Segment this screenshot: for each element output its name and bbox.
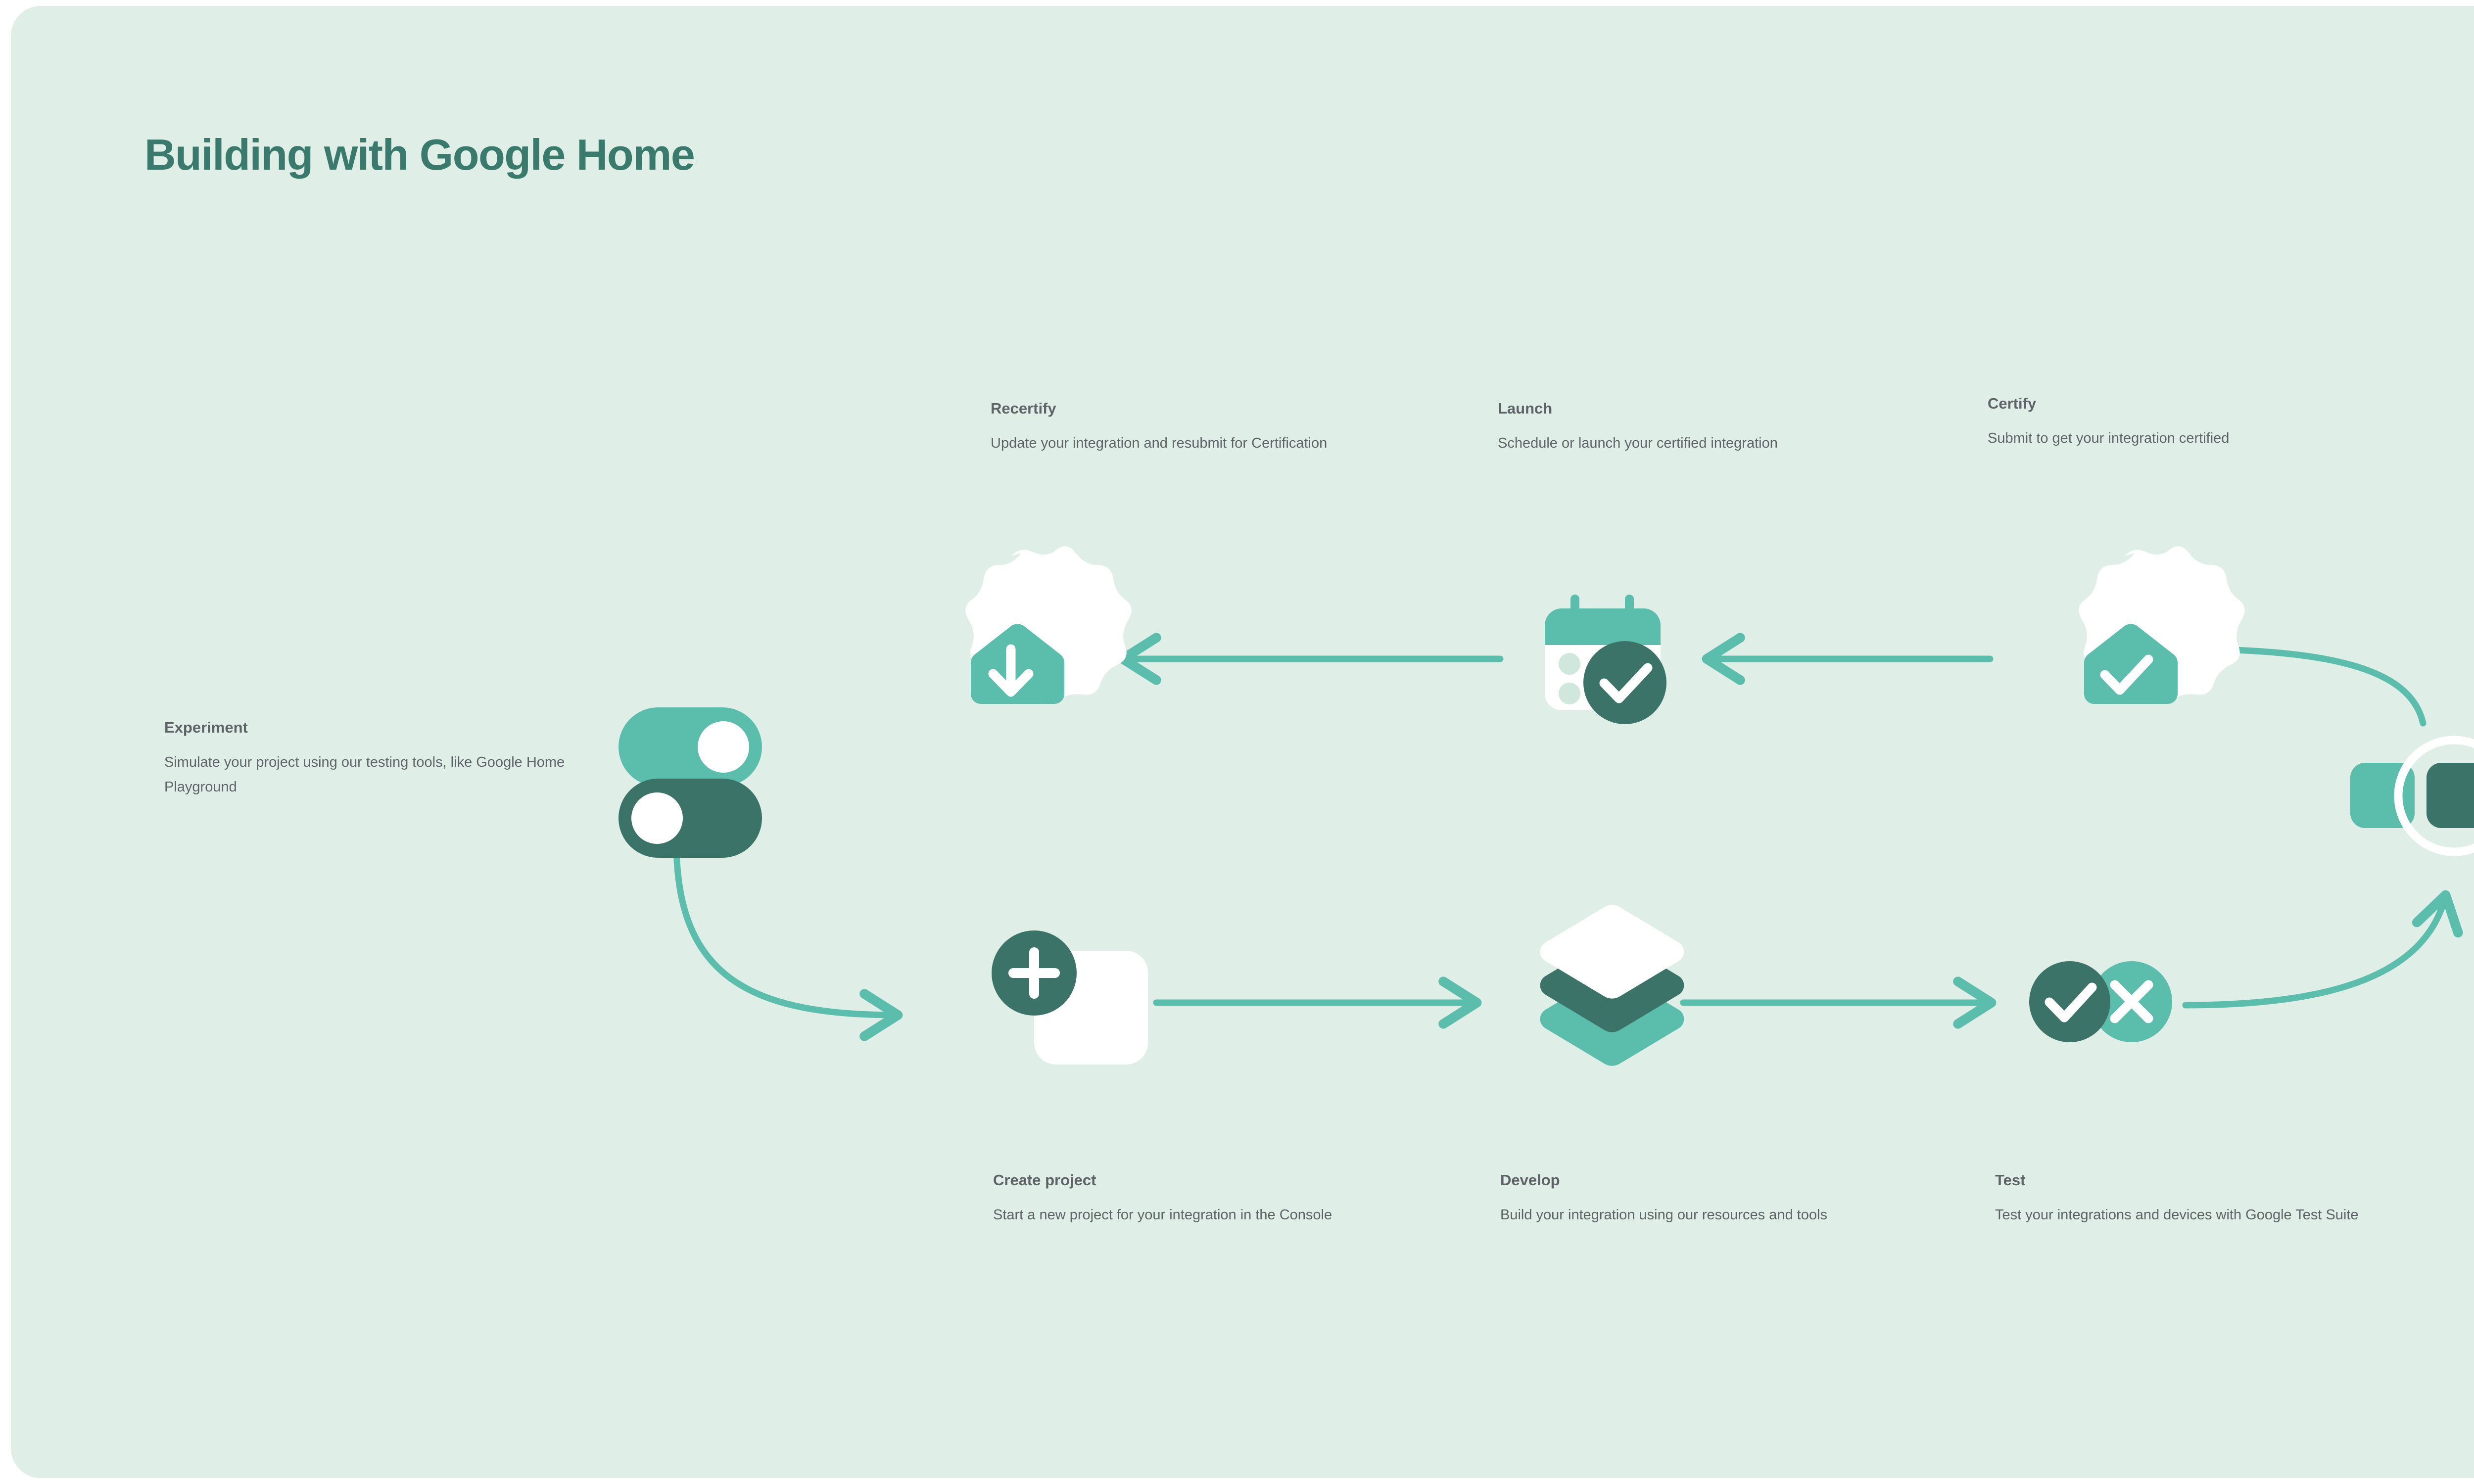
node-body-develop: Build your integration using our resourc… bbox=[1500, 1203, 1921, 1228]
node-body-launch: Schedule or launch your certified integr… bbox=[1498, 431, 1874, 456]
node-body-test: Test your integrations and devices with … bbox=[1995, 1203, 2440, 1228]
node-heading-certify: Certify bbox=[1988, 394, 2324, 414]
node-body-experiment: Simulate your project using our testing … bbox=[164, 750, 590, 800]
node-body-certify: Submit to get your integration certified bbox=[1988, 426, 2324, 451]
node-label-develop: Develop Build your integration using our… bbox=[1500, 1171, 1921, 1228]
node-heading-develop: Develop bbox=[1500, 1171, 1921, 1190]
check-cross-icon bbox=[2029, 961, 2172, 1042]
node-label-test: Test Test your integrations and devices … bbox=[1995, 1171, 2440, 1228]
node-heading-recertify: Recertify bbox=[991, 399, 1421, 418]
node-body-recertify: Update your integration and resubmit for… bbox=[991, 431, 1421, 456]
node-body-create-project: Start a new project for your integration… bbox=[993, 1203, 1404, 1228]
node-heading-experiment: Experiment bbox=[164, 718, 590, 738]
node-heading-test: Test bbox=[1995, 1171, 2440, 1190]
node-label-launch: Launch Schedule or launch your certified… bbox=[1498, 399, 1874, 456]
node-label-experiment: Experiment Simulate your project using o… bbox=[164, 718, 590, 800]
devices-ring-icon bbox=[2350, 740, 2474, 852]
node-label-certify: Certify Submit to get your integration c… bbox=[1988, 394, 2324, 451]
node-label-recertify: Recertify Update your integration and re… bbox=[991, 399, 1421, 456]
node-label-create-project: Create project Start a new project for y… bbox=[993, 1171, 1404, 1228]
node-heading-create-project: Create project bbox=[993, 1171, 1404, 1190]
toggles-icon bbox=[618, 707, 762, 858]
diagram-canvas: Building with Google Home bbox=[11, 6, 2474, 1478]
add-card-icon bbox=[992, 930, 1148, 1065]
calendar-check-icon bbox=[1545, 595, 1666, 724]
node-heading-launch: Launch bbox=[1498, 399, 1874, 418]
layers-icon bbox=[1540, 905, 1684, 1066]
badge-home-download-icon bbox=[965, 546, 1131, 704]
badge-home-check-icon bbox=[2079, 546, 2244, 704]
